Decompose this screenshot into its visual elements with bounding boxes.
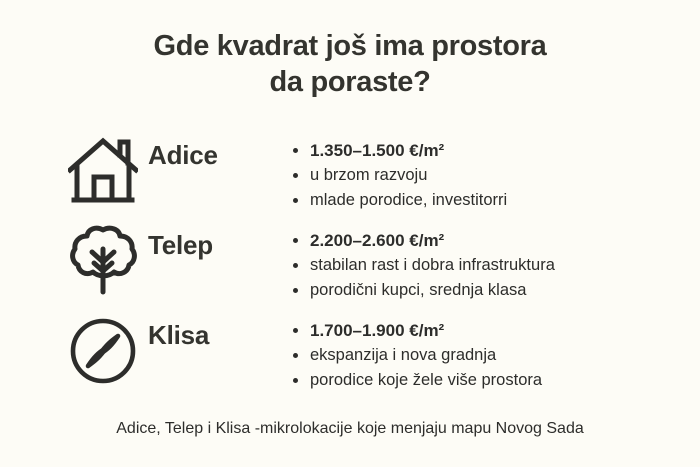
list-item: stabilan rast i dobra infrastruktura [292, 253, 555, 278]
list-item: mlade porodice, investitorri [292, 188, 507, 213]
place-name-klisa: Klisa [148, 320, 209, 351]
bullet-text: porodični kupci, srednja klasa [310, 281, 526, 299]
bullet-list-telep: 2.200–2.600 €/m² stabilan rast i dobra i… [292, 228, 555, 303]
list-item: 2.200–2.600 €/m² [292, 228, 555, 253]
bullet-text: u brzom razvoju [310, 166, 427, 184]
list-item: 1.700–1.900 €/m² [292, 318, 542, 343]
bullet-dot-icon [293, 328, 298, 333]
bullet-text: stabilan rast i dobra infrastruktura [310, 256, 555, 274]
compass-icon [68, 314, 138, 386]
bullet-text: ekspanzija i nova gradnja [310, 346, 496, 364]
bullet-dot-icon [293, 378, 298, 383]
bullet-text: 1.700–1.900 €/m² [310, 321, 444, 340]
bullet-dot-icon [293, 263, 298, 268]
house-icon [68, 134, 138, 206]
bullet-dot-icon [293, 148, 298, 153]
list-item: ekspanzija i nova gradnja [292, 343, 542, 368]
bullet-dot-icon [293, 288, 298, 293]
section-adice: Adice 1.350–1.500 €/m² u brzom razvoju m… [0, 132, 700, 220]
bullet-dot-icon [293, 173, 298, 178]
title-line-2: da poraste? [0, 64, 700, 100]
infographic-canvas: Gde kvadrat još ima prostora da poraste?… [0, 0, 700, 467]
section-klisa: Klisa 1.700–1.900 €/m² ekspanzija i nova… [0, 312, 700, 400]
bullet-text: 1.350–1.500 €/m² [310, 141, 444, 160]
list-item: 1.350–1.500 €/m² [292, 138, 507, 163]
bullet-text: 2.200–2.600 €/m² [310, 231, 444, 250]
list-item: porodice koje žele više prostora [292, 368, 542, 393]
bullet-dot-icon [293, 198, 298, 203]
place-name-telep: Telep [148, 230, 213, 261]
list-item: u brzom razvoju [292, 163, 507, 188]
page-title: Gde kvadrat još ima prostora da poraste? [0, 28, 700, 100]
bullet-list-adice: 1.350–1.500 €/m² u brzom razvoju mlade p… [292, 138, 507, 213]
footer-note: Adice, Telep i Klisa -mikrolokacije koje… [0, 418, 700, 440]
place-name-adice: Adice [148, 140, 218, 171]
section-telep: Telep 2.200–2.600 €/m² stabilan rast i d… [0, 222, 700, 310]
bullet-text: porodice koje žele više prostora [310, 371, 542, 389]
list-item: porodični kupci, srednja klasa [292, 278, 555, 303]
tree-icon [68, 224, 138, 296]
bullet-text: mlade porodice, investitorri [310, 191, 507, 209]
title-line-1: Gde kvadrat još ima prostora [0, 28, 700, 64]
bullet-dot-icon [293, 353, 298, 358]
bullet-list-klisa: 1.700–1.900 €/m² ekspanzija i nova gradn… [292, 318, 542, 393]
bullet-dot-icon [293, 238, 298, 243]
